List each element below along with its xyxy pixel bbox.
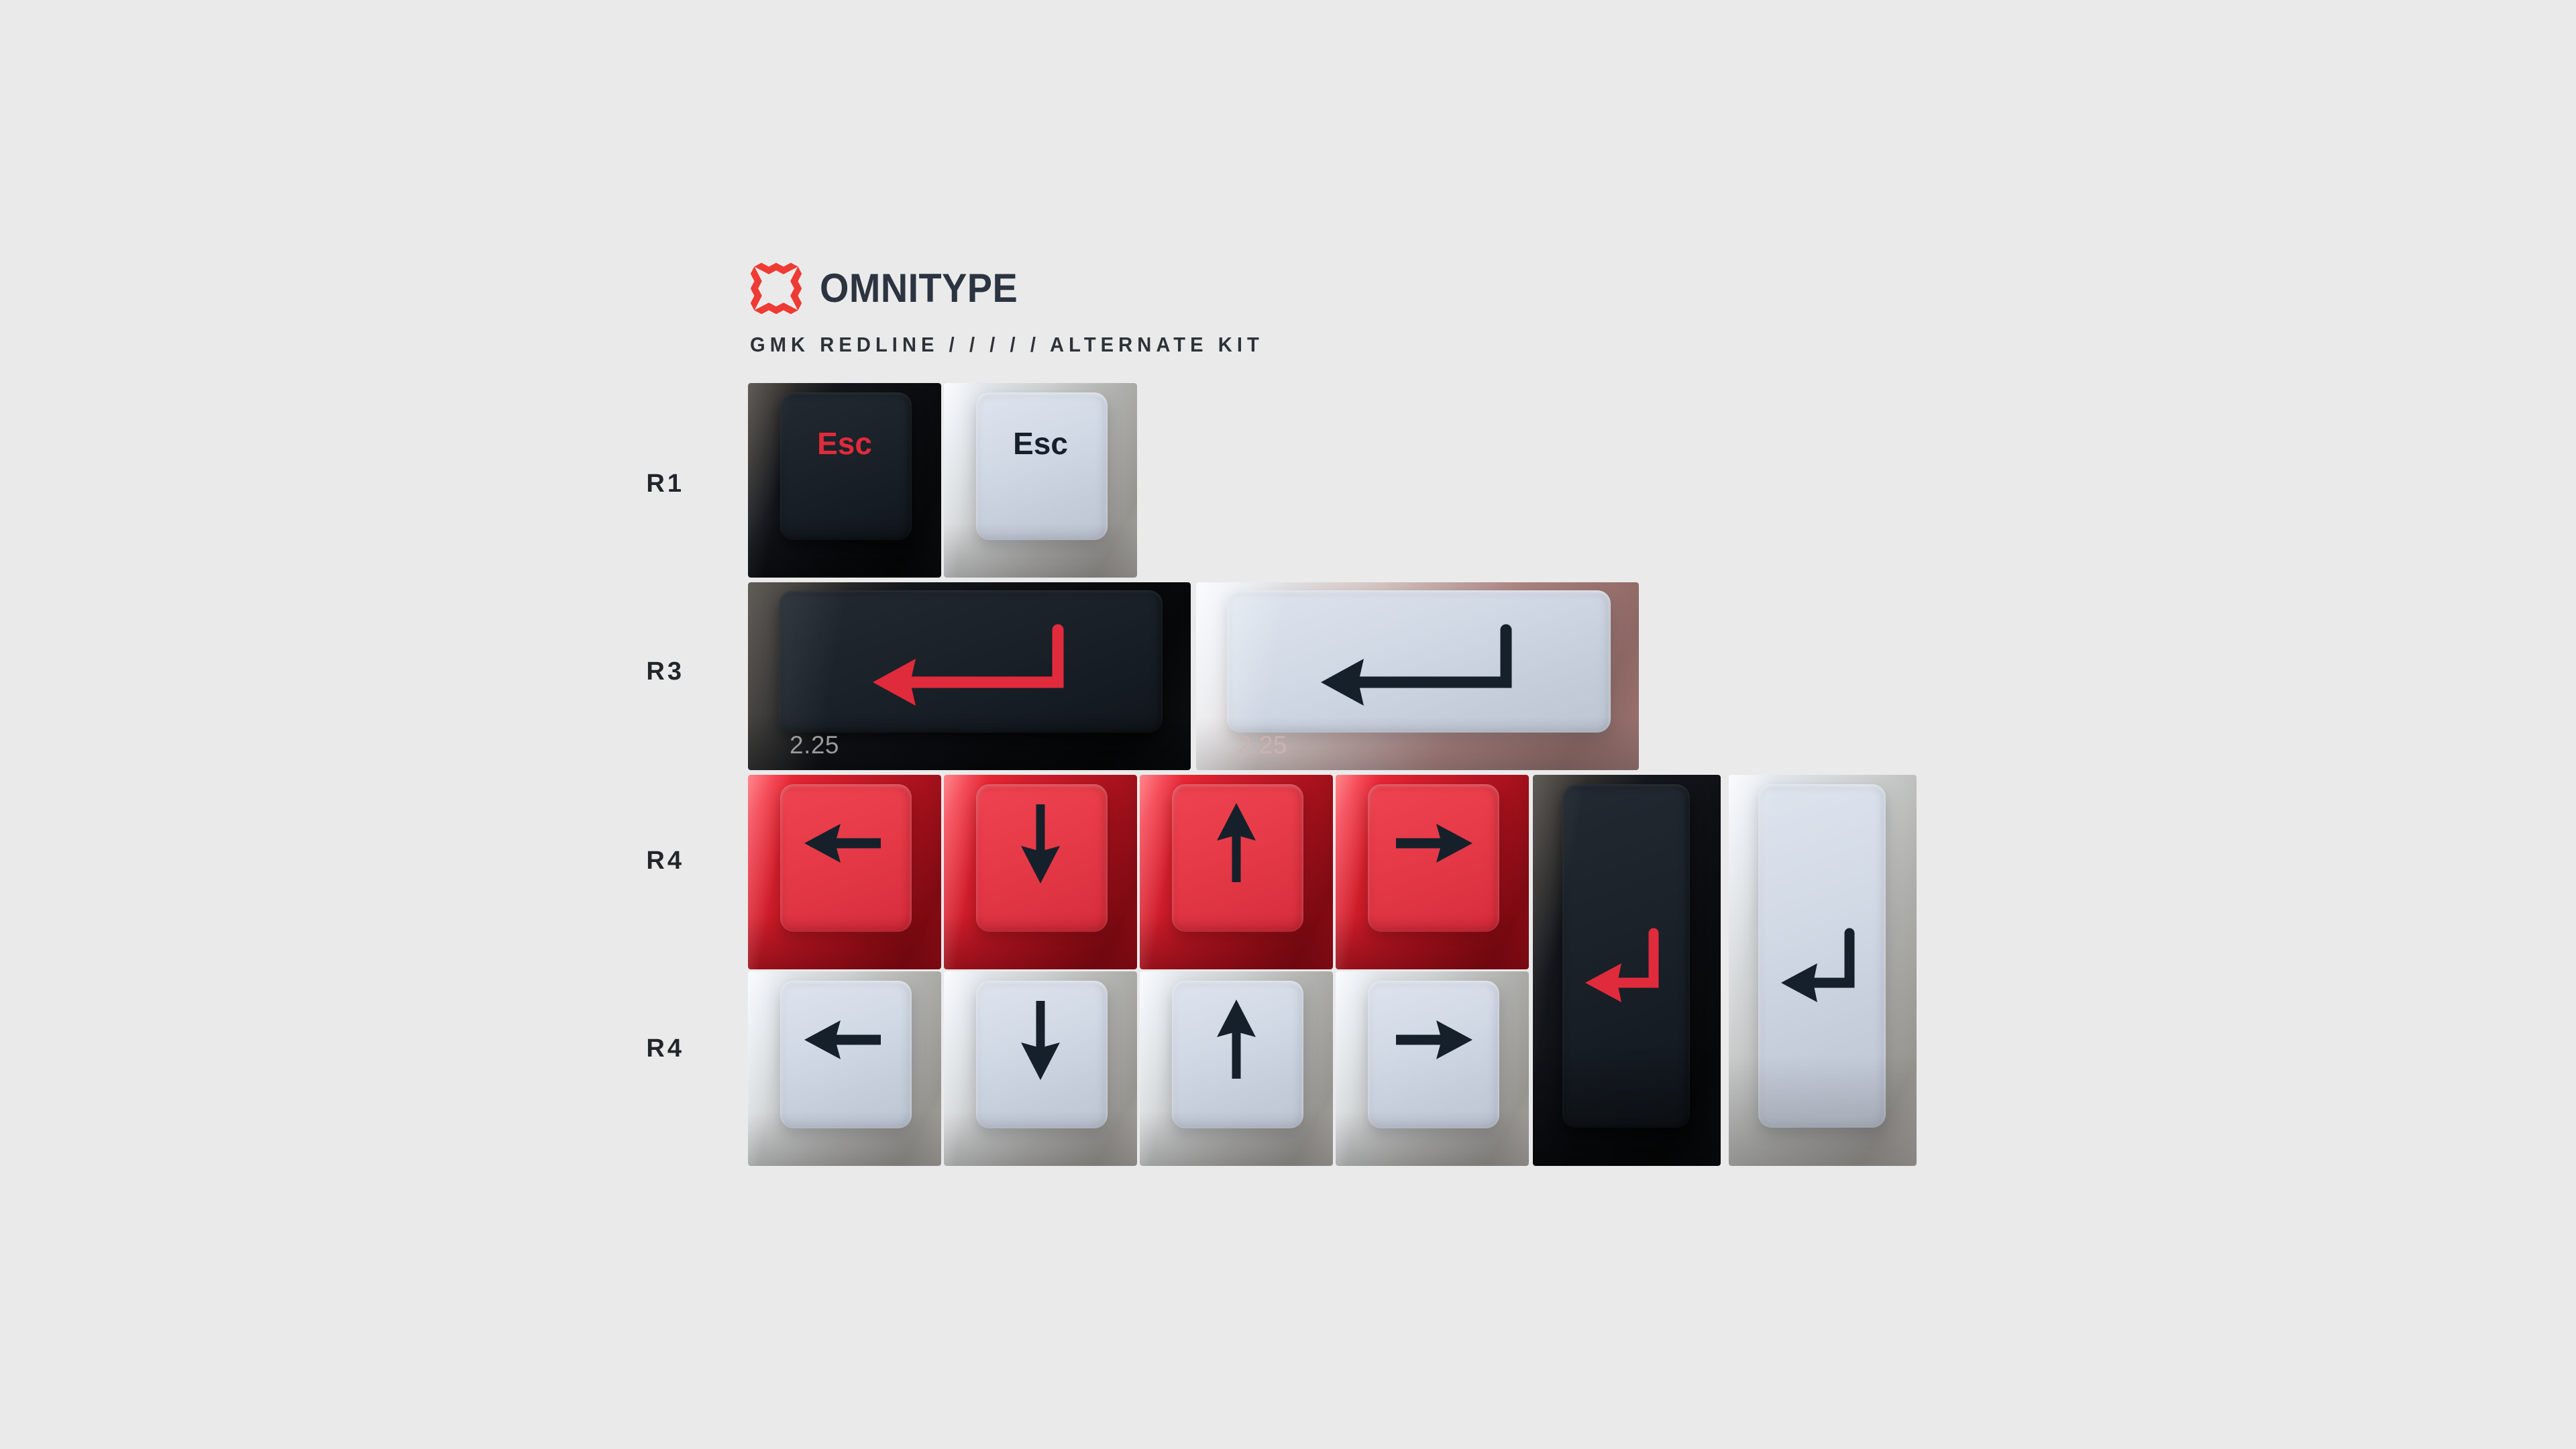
enter-arrow-icon	[1776, 926, 1863, 1007]
keycap-top: Esc	[976, 392, 1108, 540]
keycap-r1-esc-dark[interactable]: Esc	[748, 383, 941, 578]
keycap-top	[976, 981, 1108, 1128]
keycap-board: R1 R3 R4 R4 Esc Esc	[0, 0, 2576, 1449]
keycap-r3-enter-dark-2-25u[interactable]: 2.25	[748, 582, 1191, 770]
keycap-top	[1368, 981, 1499, 1128]
keycap-top	[976, 784, 1108, 932]
keycap-top	[1172, 784, 1303, 932]
enter-arrow-icon	[1314, 622, 1515, 709]
keycap-r3-enter-light-2-25u[interactable]: 2.25	[1196, 582, 1639, 770]
keycap-r4-arrow-left-light[interactable]	[748, 971, 941, 1166]
arrow-left-icon	[802, 1014, 888, 1065]
keycap-r4-arrow-left-red[interactable]	[748, 775, 941, 969]
keycap-top: Esc	[780, 392, 912, 540]
arrow-right-icon	[1389, 818, 1475, 869]
arrow-down-icon	[1015, 997, 1066, 1083]
arrow-down-icon	[1015, 800, 1066, 886]
keycap-kit-render: OMNITYPE GMK REDLINE / / / / / ALTERNATE…	[0, 0, 2576, 1449]
keycap-top	[1172, 981, 1303, 1128]
keycap-top	[780, 784, 912, 932]
keycap-r4-arrow-down-red[interactable]	[944, 775, 1137, 969]
arrow-right-icon	[1389, 1014, 1475, 1065]
keycap-top	[1368, 784, 1499, 932]
keycap-legend: Esc	[817, 428, 872, 459]
keycap-r4-arrow-up-red[interactable]	[1140, 775, 1333, 969]
keycap-r4-arrow-down-light[interactable]	[944, 971, 1137, 1166]
arrow-up-icon	[1211, 800, 1262, 886]
arrow-up-icon	[1211, 997, 1262, 1083]
row-label-r4-red: R4	[550, 847, 684, 875]
keycap-r4-arrow-up-light[interactable]	[1140, 971, 1333, 1166]
keycap-top	[1758, 784, 1886, 1128]
keycap-top	[780, 981, 912, 1128]
keycap-r1-esc-light[interactable]: Esc	[944, 383, 1137, 578]
keycap-r4-arrow-right-light[interactable]	[1336, 971, 1529, 1166]
enter-arrow-icon	[866, 622, 1067, 709]
row-label-r3: R3	[550, 657, 684, 686]
enter-arrow-icon	[1580, 926, 1667, 1007]
keycap-legend: Esc	[1013, 428, 1068, 459]
keycap-top	[779, 590, 1163, 733]
keycap-r4-arrow-right-red[interactable]	[1336, 775, 1529, 969]
row-label-r1: R1	[550, 470, 684, 498]
row-label-r4-light: R4	[550, 1034, 684, 1063]
keycap-top	[1227, 590, 1611, 733]
keycap-tall-enter-dark-2u[interactable]	[1533, 775, 1721, 1166]
keycap-top	[1562, 784, 1690, 1128]
arrow-left-icon	[802, 818, 888, 869]
keycap-tall-enter-light-2u[interactable]	[1729, 775, 1917, 1166]
